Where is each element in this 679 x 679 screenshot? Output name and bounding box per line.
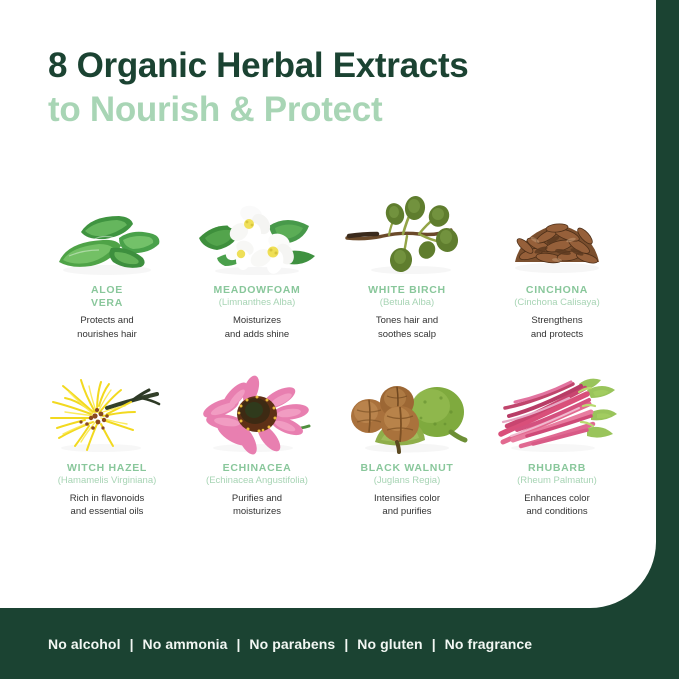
claim-no-parabens: No parabens [249,636,335,652]
claim-no-alcohol: No alcohol [48,636,121,652]
extract-card-black-walnut: BLACK WALNUT (Juglans Regia) Intensifies… [332,368,482,519]
extract-latin-name: (Hamamelis Virginiana) [58,475,157,488]
extract-name: WHITE BIRCH [368,284,446,297]
extract-description: Enhances color and conditions [524,492,589,520]
extract-name: WITCH HAZEL [67,462,147,475]
title-line-secondary: to Nourish & Protect [48,88,628,132]
witch-hazel-flower-image [41,368,173,456]
extract-name: RHUBARB [528,462,586,475]
claim-separator: | [432,636,436,652]
echinacea-flower-image [191,368,323,456]
extract-latin-name: (Rheum Palmatun) [517,475,597,488]
extract-card-aloe-vera: ALOE VERA Protects and nourishes hair [32,190,182,342]
extract-name: BLACK WALNUT [361,462,454,475]
extract-card-echinacea: ECHINACEA (Echinacea Angustifolia) Purif… [182,368,332,519]
claim-separator: | [237,636,241,652]
claim-no-ammonia: No ammonia [142,636,227,652]
claim-no-fragrance: No fragrance [445,636,533,652]
extract-description: Moisturizes and adds shine [225,314,289,342]
extract-name: ECHINACEA [223,462,292,475]
extract-description: Protects and nourishes hair [77,314,137,342]
footer-bar: No alcohol | No ammonia | No parabens | … [0,608,679,679]
extract-latin-name: (Juglans Regia) [374,475,441,488]
black-walnut-image [341,368,473,456]
extract-card-white-birch: WHITE BIRCH (Betula Alba) Tones hair and… [332,190,482,342]
page-title: 8 Organic Herbal Extracts to Nourish & P… [48,44,628,132]
extract-latin-name: (Limnanthes Alba) [219,297,296,310]
extract-description: Strengthens and protects [531,314,583,342]
extract-card-cinchona: CINCHONA (Cinchona Calisaya) Strengthens… [482,190,632,342]
claim-no-gluten: No gluten [357,636,422,652]
extract-name: CINCHONA [526,284,588,297]
extract-latin-name: (Betula Alba) [380,297,434,310]
extract-card-witch-hazel: WITCH HAZEL (Hamamelis Virginiana) Rich … [32,368,182,519]
rhubarb-stalks-image [491,368,623,456]
extract-latin-name: (Echinacea Angustifolia) [206,475,308,488]
white-birch-catkins-image [341,190,473,278]
extract-name: ALOE VERA [91,284,123,310]
extract-description: Tones hair and soothes scalp [376,314,438,342]
extracts-grid: ALOE VERA Protects and nourishes hair [32,190,632,519]
meadowfoam-flowers-image [191,190,323,278]
extract-description: Purifies and moisturizes [232,492,282,520]
herbal-extracts-infographic: 8 Organic Herbal Extracts to Nourish & P… [0,0,679,679]
cinchona-bark-image [491,190,623,278]
aloe-vera-leaves-image [41,190,173,278]
extract-description: Rich in flavonoids and essential oils [70,492,144,520]
footer-claims-list: No alcohol | No ammonia | No parabens | … [48,636,532,652]
claim-separator: | [344,636,348,652]
extract-name: MEADOWFOAM [214,284,301,297]
extract-latin-name: (Cinchona Calisaya) [514,297,600,310]
extract-card-meadowfoam: MEADOWFOAM (Limnanthes Alba) Moisturizes… [182,190,332,342]
claim-separator: | [130,636,134,652]
extract-description: Intensifies color and purifies [374,492,440,520]
title-line-primary: 8 Organic Herbal Extracts [48,44,628,88]
extract-card-rhubarb: RHUBARB (Rheum Palmatun) Enhances color … [482,368,632,519]
